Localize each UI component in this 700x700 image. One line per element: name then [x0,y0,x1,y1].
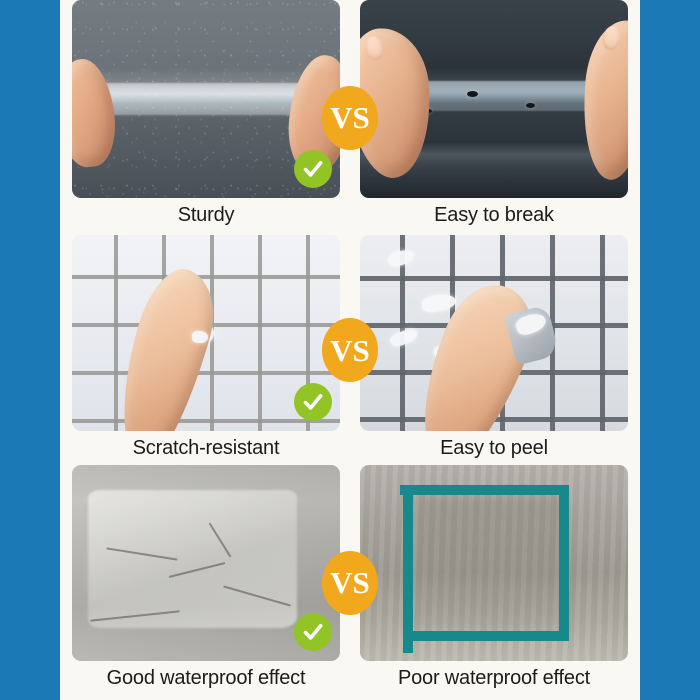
caption-good-waterproof: Good waterproof effect [72,661,340,695]
teal-tape-overhang [400,485,412,495]
vs-badge-icon: VS [322,86,378,150]
photo-good-waterproof-concrete [72,465,340,661]
product-comparison-infographic: Sturdy Easy to break VS [0,0,700,700]
photo-easy-to-break-tape [360,0,628,198]
vs-label: VS [330,102,370,133]
teal-tape-overhang [403,631,569,641]
grout-smear [192,331,208,343]
peeled-flake [421,292,457,314]
caption-easy-to-peel: Easy to peel [360,431,628,465]
photo-poor-waterproof-concrete [360,465,628,661]
caption-scratch-resistant: Scratch-resistant [72,431,340,465]
photo-sturdy-tape [72,0,340,198]
concrete-crack [169,562,226,578]
teal-tape-square [403,485,569,642]
concrete-crack [223,585,291,606]
peeled-flake [386,247,415,268]
caption-poor-waterproof: Poor waterproof effect [360,661,628,695]
comparison-cell-good[interactable]: Good waterproof effect [72,465,340,695]
vs-label: VS [330,335,370,366]
photo-easy-to-peel-grout [360,235,628,431]
concrete-crack [106,547,177,560]
tape-hole [467,91,478,97]
finger-pressing [102,261,226,431]
content-panel: Sturdy Easy to break VS [60,0,640,700]
peeled-flake [389,326,420,349]
tape-hole [526,103,535,108]
comparison-row-scratch: Scratch-resistant Easy to peel [60,235,640,465]
comparison-row-waterproof: Good waterproof effect Poor waterproof e… [60,465,640,700]
check-icon [294,383,332,421]
comparison-cell-bad[interactable]: Easy to peel [360,235,628,465]
check-icon [294,150,332,188]
caption-sturdy: Sturdy [72,198,340,232]
vs-label: VS [330,567,370,598]
vs-badge-icon: VS [322,318,378,382]
caption-easy-to-break: Easy to break [360,198,628,232]
comparison-cell-bad[interactable]: Easy to break [360,0,628,232]
photo-scratch-resistant-grout [72,235,340,431]
comparison-row-durability: Sturdy Easy to break VS [60,0,640,235]
vs-badge-icon: VS [322,551,378,615]
check-icon [294,613,332,651]
comparison-cell-good[interactable]: Sturdy [72,0,340,232]
comparison-cell-bad[interactable]: Poor waterproof effect [360,465,628,695]
concrete-crack [90,610,180,621]
comparison-cell-good[interactable]: Scratch-resistant [72,235,340,465]
hand-left [72,57,119,170]
concrete-crack [209,523,232,558]
